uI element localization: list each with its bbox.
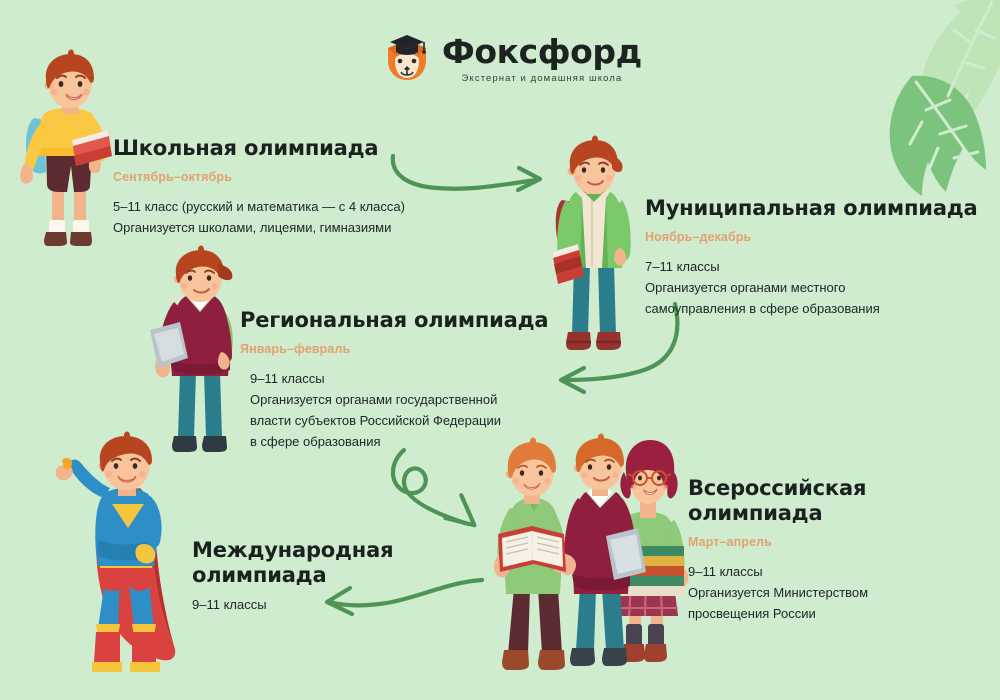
stage-title-international: Международная олимпиада	[192, 538, 432, 588]
stage-title-school: Школьная олимпиада	[113, 136, 463, 161]
monstera-leaves-icon	[866, 0, 1000, 205]
brand-tagline: Экстернат и домашняя школа	[442, 73, 642, 84]
infographic-canvas: Фоксфорд Экстернат и домашняя школа	[0, 0, 1000, 700]
three-students-group-illustration	[488, 428, 688, 690]
fox-graduate-icon	[383, 30, 431, 82]
stage-body-regional: 9–11 классы Организуется органами госуда…	[240, 368, 590, 452]
stage-body-school: 5–11 класс (русский и математика — с 4 к…	[113, 196, 463, 238]
stage-block-international: Международная олимпиада 9–11 классы	[192, 538, 432, 615]
schoolboy-with-books-illustration	[16, 52, 122, 252]
stage-body-international: 9–11 классы	[192, 594, 432, 615]
brand-name: Фоксфорд	[442, 35, 642, 68]
stage-title-national: Всероссийская олимпиада	[688, 476, 998, 526]
stage-block-school: Школьная олимпиада Сентябрь–октябрь 5–11…	[113, 136, 463, 238]
stage-title-municipal: Муниципальная олимпиада	[645, 196, 995, 221]
stage-date-municipal: Ноябрь–декабрь	[645, 230, 995, 244]
stage-date-school: Сентябрь–октябрь	[113, 170, 463, 184]
brand-logo: Фоксфорд Экстернат и домашняя школа	[383, 30, 642, 84]
stage-body-municipal: 7–11 классы Организуется органами местно…	[645, 256, 995, 319]
stage-block-regional: Региональная олимпиада Январь–февраль 9–…	[240, 308, 590, 452]
stage-body-national: 9–11 классы Организуется Министерством п…	[688, 561, 998, 624]
stage-date-regional: Январь–февраль	[240, 342, 590, 356]
stage-title-regional: Региональная олимпиада	[240, 308, 590, 333]
stage-block-municipal: Муниципальная олимпиада Ноябрь–декабрь 7…	[645, 196, 995, 319]
superhero-boy-illustration	[56, 432, 196, 682]
stage-date-national: Март–апрель	[688, 535, 998, 549]
stage-block-national: Всероссийская олимпиада Март–апрель 9–11…	[688, 476, 998, 624]
